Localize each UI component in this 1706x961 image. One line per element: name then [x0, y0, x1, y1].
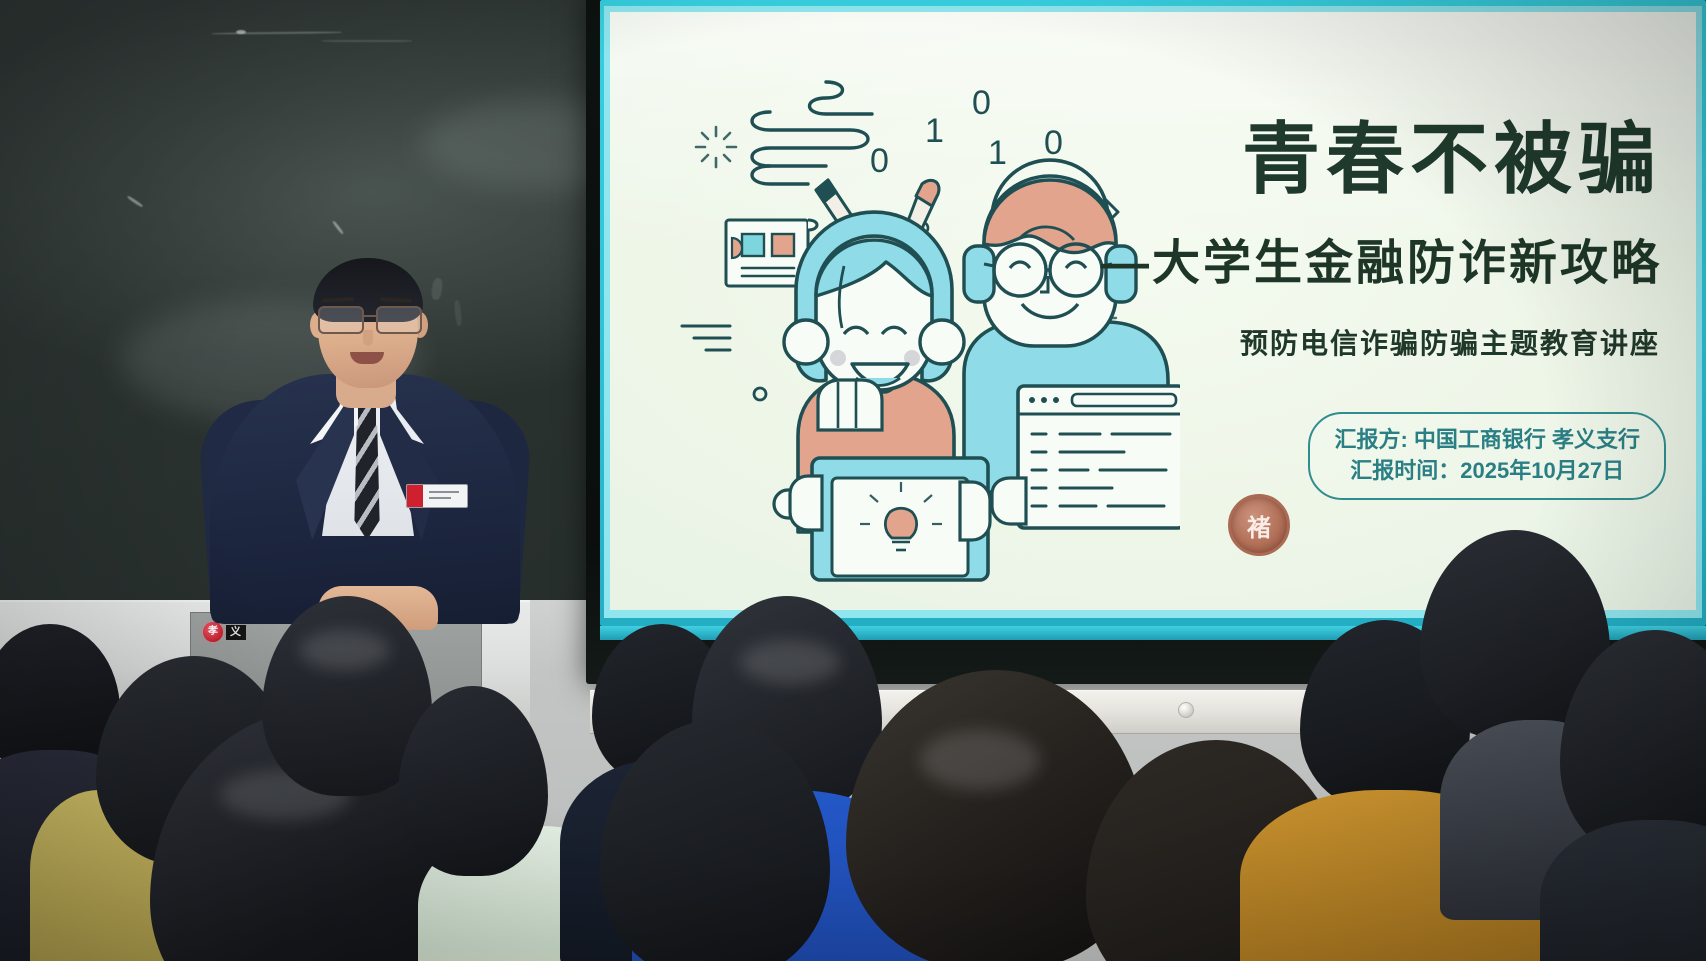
chalk-mark — [127, 195, 144, 208]
chalk-mark — [212, 31, 342, 34]
svg-text:0: 0 — [870, 142, 889, 180]
hair-highlight — [920, 730, 1040, 790]
svg-text:0: 0 — [972, 84, 991, 122]
svg-text:0: 0 — [1044, 124, 1063, 162]
svg-text:1: 1 — [988, 134, 1007, 172]
svg-text:1: 1 — [925, 112, 944, 150]
presenter-name-badge — [406, 484, 468, 508]
slide-info-pill: 汇报方: 中国工商银行 孝义支行 汇报时间：2025年10月27日 — [1308, 412, 1666, 500]
hair-highlight — [740, 640, 840, 684]
presentation-slide[interactable]: 0 1 0 1 0 — [610, 12, 1696, 610]
slide-title: 青春不被骗 — [1242, 120, 1662, 198]
lecture-hall-photo: 孝 义 — [0, 0, 1706, 961]
red-seal-stamp: 褚 — [1228, 494, 1290, 556]
presenter-nose — [363, 330, 373, 346]
presenter-org-line: 汇报方: 中国工商银行 孝义支行 — [1334, 424, 1640, 455]
glasses-icon — [316, 306, 422, 332]
chalk-mark — [236, 30, 246, 34]
slide-tagline: 预防电信诈骗防骗主题教育讲座 — [1240, 330, 1660, 358]
slide-illustration: 0 1 0 1 0 — [620, 42, 1180, 582]
hair-highlight — [300, 630, 390, 670]
audience — [0, 560, 1706, 961]
slide-subtitle: —大学生金融防诈新攻略 — [1101, 240, 1662, 288]
chalk-mark — [332, 220, 344, 234]
chalk-mark — [322, 40, 412, 42]
presentation-date-line: 汇报时间：2025年10月27日 — [1334, 455, 1640, 486]
